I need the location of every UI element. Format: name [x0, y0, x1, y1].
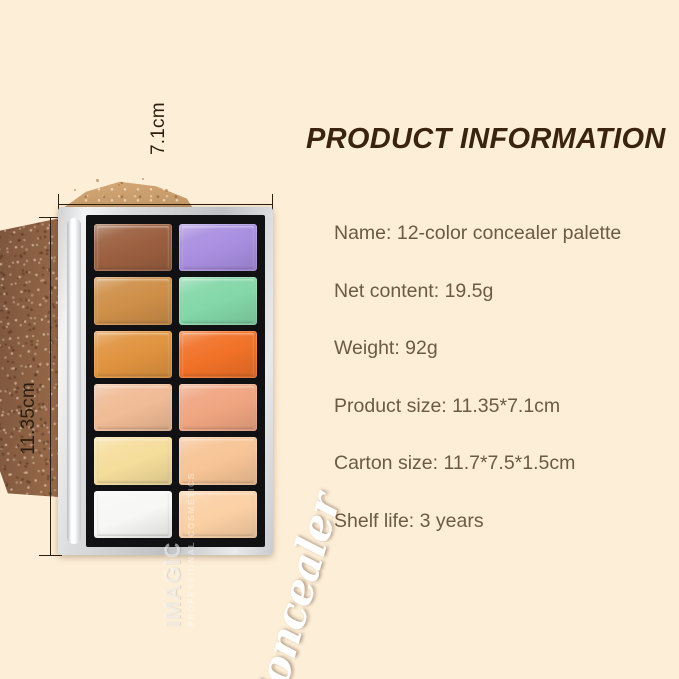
brand-logo-text: IMAGIC: [160, 542, 186, 627]
palette-pan-pale-yellow: [94, 437, 172, 484]
palette-pan-soft-peach: [179, 437, 257, 484]
powder-speck: [74, 189, 76, 191]
width-dimension-label: 7.1cm: [148, 102, 170, 155]
spec-row-weight: Weight: 92g: [334, 339, 679, 359]
palette-pan-mint-green: [179, 277, 257, 324]
info-panel: PRODUCT INFORMATION Name: 12-color conce…: [300, 0, 679, 679]
palette-pan-lavender: [179, 224, 257, 271]
spec-row-carton-size: Carton size: 11.7*7.5*1.5cm: [334, 454, 679, 474]
width-dimension-line: [58, 204, 272, 205]
powder-speck: [142, 178, 144, 180]
palette-pan-grid: [86, 215, 265, 547]
powder-speck: [118, 184, 120, 186]
spec-row-product-size: Product size: 11.35*7.1cm: [334, 397, 679, 417]
palette-pan-white: [94, 491, 172, 538]
page-title: PRODUCT INFORMATION: [306, 123, 666, 156]
spec-row-net-content: Net content: 19.5g: [334, 282, 679, 302]
spec-row-shelf-life: Shelf life: 3 years: [334, 512, 679, 532]
product-photo: 7.1cm 11.35cm IMAGIC PROFESSIONAL COSMET…: [0, 0, 300, 679]
spec-list: Name: 12-color concealer paletteNet cont…: [334, 224, 679, 569]
powder-speck: [96, 179, 99, 182]
palette-pan-bright-orange: [179, 331, 257, 378]
palette-pan-light-beige: [94, 384, 172, 431]
product-information-page: 7.1cm 11.35cm IMAGIC PROFESSIONAL COSMET…: [0, 0, 679, 679]
concealer-palette: IMAGIC PROFESSIONAL COSMETICS Concealer: [58, 207, 273, 555]
height-dimension-line: [50, 217, 51, 555]
height-dimension-label: 11.35cm: [18, 382, 40, 455]
powder-speck: [165, 189, 168, 192]
palette-pan-salmon-peach: [179, 384, 257, 431]
palette-pan-warm-orange-tan: [94, 331, 172, 378]
palette-pan-light-peach: [179, 491, 257, 538]
height-dimension-tick-bottom: [39, 555, 62, 556]
palette-hinge-highlight: [67, 218, 81, 544]
spec-row-name: Name: 12-color concealer palette: [334, 224, 679, 244]
palette-pan-deep-brown: [94, 224, 172, 271]
palette-pan-caramel-tan: [94, 277, 172, 324]
